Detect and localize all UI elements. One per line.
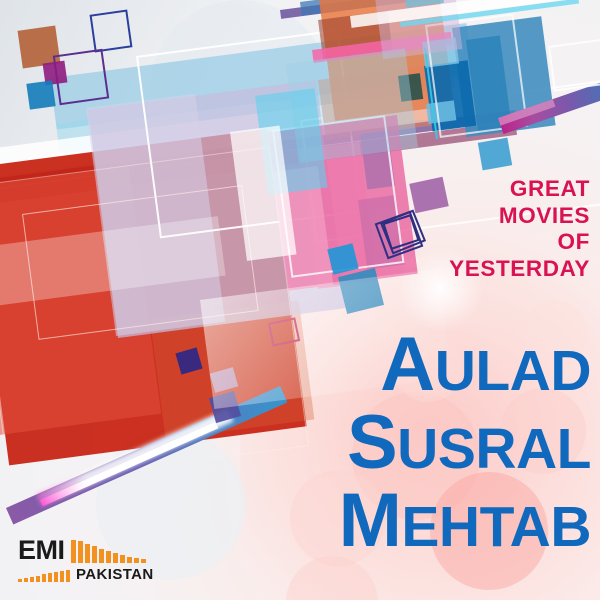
tagline-line-4: YESTERDAY [290, 256, 590, 283]
emi-wordmark: EMI [18, 538, 65, 563]
title-line-aulad: Aulad [171, 330, 591, 400]
title-line-susral: Susral [171, 408, 591, 478]
title-initial: M [339, 478, 402, 563]
title-remainder: ulad [435, 339, 591, 403]
title-remainder: ehtab [401, 495, 591, 559]
tagline: GREAT MOVIES OF YESTERDAY [290, 176, 590, 282]
album-title: Aulad Susral Mehtab [171, 330, 591, 556]
emi-equalizer-bars-ascending [18, 570, 70, 582]
title-initial: S [347, 400, 397, 485]
emi-region-label: PAKISTAN [76, 568, 154, 582]
tagline-line-1: GREAT [290, 176, 590, 203]
emi-logo-top-row: EMI [18, 537, 188, 563]
emi-equalizer-bars-descending [71, 539, 146, 563]
tagline-line-3: OF [290, 229, 590, 256]
tagline-line-2: MOVIES [290, 203, 590, 230]
title-initial: A [380, 322, 434, 407]
emi-logo-bottom-row: PAKISTAN [18, 566, 188, 582]
title-remainder: usral [397, 417, 591, 481]
emi-pakistan-logo: EMI PAKISTAN [18, 537, 188, 582]
title-line-mehtab: Mehtab [171, 486, 591, 556]
album-cover: GREAT MOVIES OF YESTERDAY Aulad Susral M… [0, 0, 600, 600]
